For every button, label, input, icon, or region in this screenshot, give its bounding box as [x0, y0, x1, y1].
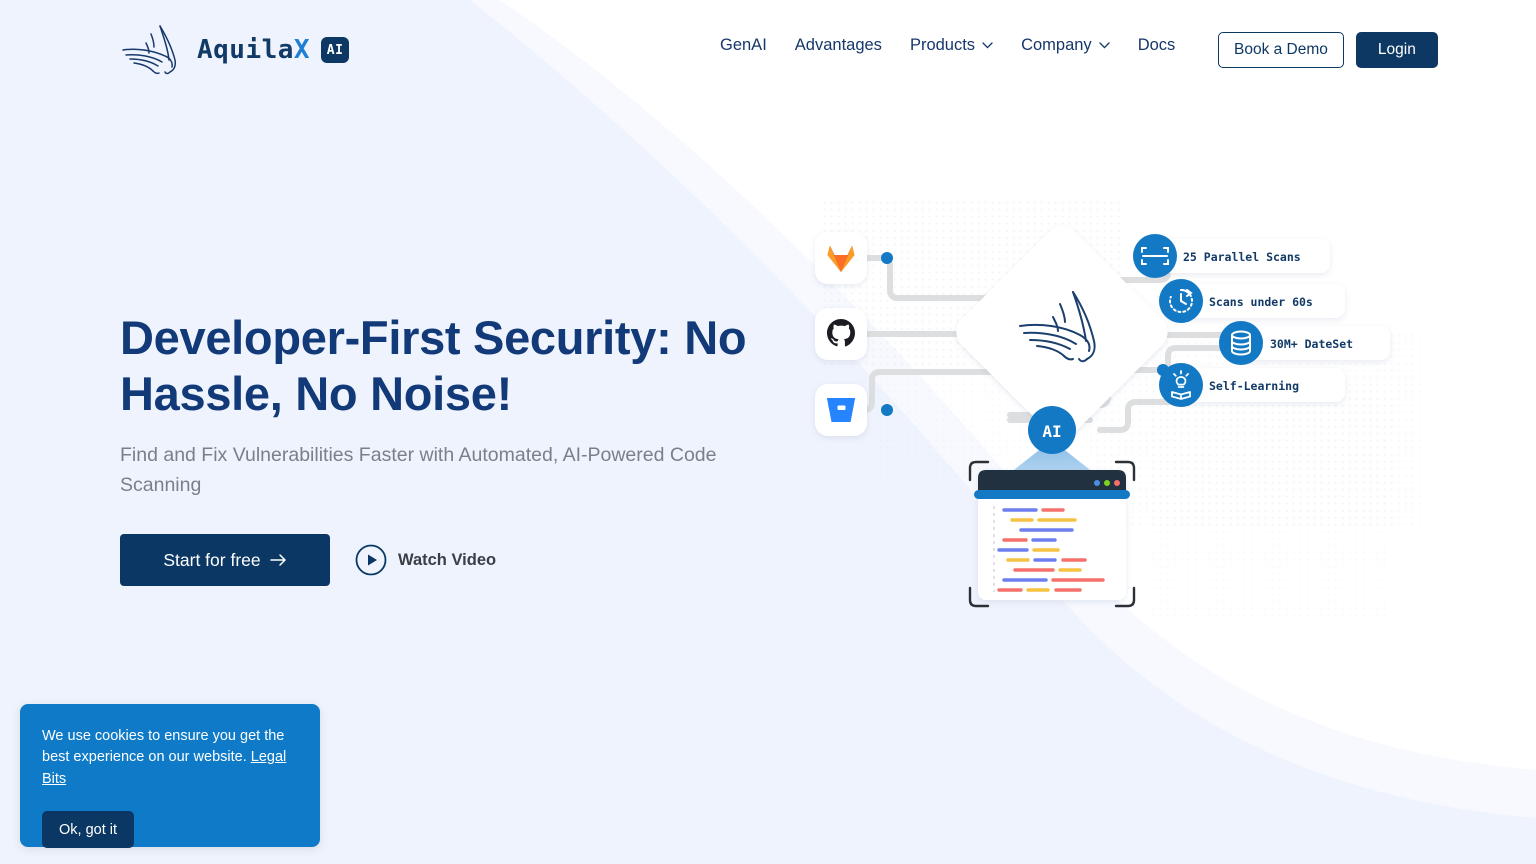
cookie-message-text: We use cookies to ensure you get the bes… — [42, 728, 284, 765]
feature-chip-self-learning: Self-Learning — [1159, 363, 1345, 407]
source-github — [815, 308, 867, 360]
nav-item-products[interactable]: Products — [910, 36, 993, 55]
cookie-consent-banner: We use cookies to ensure you get the bes… — [20, 704, 320, 847]
nav-label: Products — [910, 36, 975, 55]
play-circle-icon — [355, 544, 387, 576]
start-for-free-label: Start for free — [163, 550, 260, 571]
nav-label: Advantages — [795, 36, 882, 55]
nav-item-advantages[interactable]: Advantages — [795, 36, 882, 55]
site-header: AquilaX AI GenAI Advantages Products Com… — [0, 0, 1536, 100]
svg-text:30M+ DateSet: 30M+ DateSet — [1270, 337, 1353, 351]
svg-text:AI: AI — [1042, 422, 1061, 441]
landing-page: AquilaX AI GenAI Advantages Products Com… — [0, 0, 1536, 864]
feature-chip-scans-under-60s: Scans under 60s — [1159, 279, 1345, 323]
nav-item-docs[interactable]: Docs — [1138, 36, 1176, 55]
hero-section: Developer-First Security: No Hassle, No … — [120, 310, 780, 586]
brand-ai-badge: AI — [321, 37, 349, 63]
hero-title: Developer-First Security: No Hassle, No … — [120, 310, 770, 422]
hero-cta-group: Start for free Watch Video — [120, 534, 780, 586]
watch-video-label: Watch Video — [398, 551, 496, 570]
main-navigation: GenAI Advantages Products Company Docs — [720, 36, 1175, 55]
cookie-message: We use cookies to ensure you get the bes… — [42, 726, 298, 790]
nav-item-genai[interactable]: GenAI — [720, 36, 767, 55]
nav-label: GenAI — [720, 36, 767, 55]
ai-node: AI — [1028, 406, 1076, 454]
chevron-down-icon — [982, 42, 993, 49]
code-window — [970, 462, 1134, 606]
source-bitbucket — [815, 384, 867, 436]
svg-text:25 Parallel Scans: 25 Parallel Scans — [1183, 250, 1301, 264]
brand-logo[interactable]: AquilaX AI — [120, 22, 349, 78]
nav-label: Docs — [1138, 36, 1176, 55]
cookie-accept-button[interactable]: Ok, got it — [42, 811, 134, 848]
source-gitlab — [815, 232, 867, 284]
book-demo-button[interactable]: Book a Demo — [1218, 32, 1344, 68]
eagle-logo-icon — [120, 22, 188, 78]
chevron-down-icon — [1099, 42, 1110, 49]
header-actions: Book a Demo Login — [1218, 32, 1438, 68]
feature-chip-parallel-scans: 25 Parallel Scans — [1133, 234, 1330, 278]
feature-chip-dataset: 30M+ DateSet — [1219, 321, 1390, 365]
login-button[interactable]: Login — [1356, 32, 1438, 68]
brand-name: AquilaX — [197, 37, 310, 63]
arrow-right-icon — [270, 553, 287, 567]
nav-label: Company — [1021, 36, 1092, 55]
hero-subtitle: Find and Fix Vulnerabilities Faster with… — [120, 440, 740, 500]
svg-text:Self-Learning: Self-Learning — [1209, 379, 1299, 393]
svg-text:Scans under 60s: Scans under 60s — [1209, 295, 1313, 309]
hero-illustration: 25 Parallel Scans Scans under 60s — [760, 180, 1460, 660]
nav-item-company[interactable]: Company — [1021, 36, 1110, 55]
start-for-free-button[interactable]: Start for free — [120, 534, 330, 586]
watch-video-button[interactable]: Watch Video — [355, 544, 496, 576]
